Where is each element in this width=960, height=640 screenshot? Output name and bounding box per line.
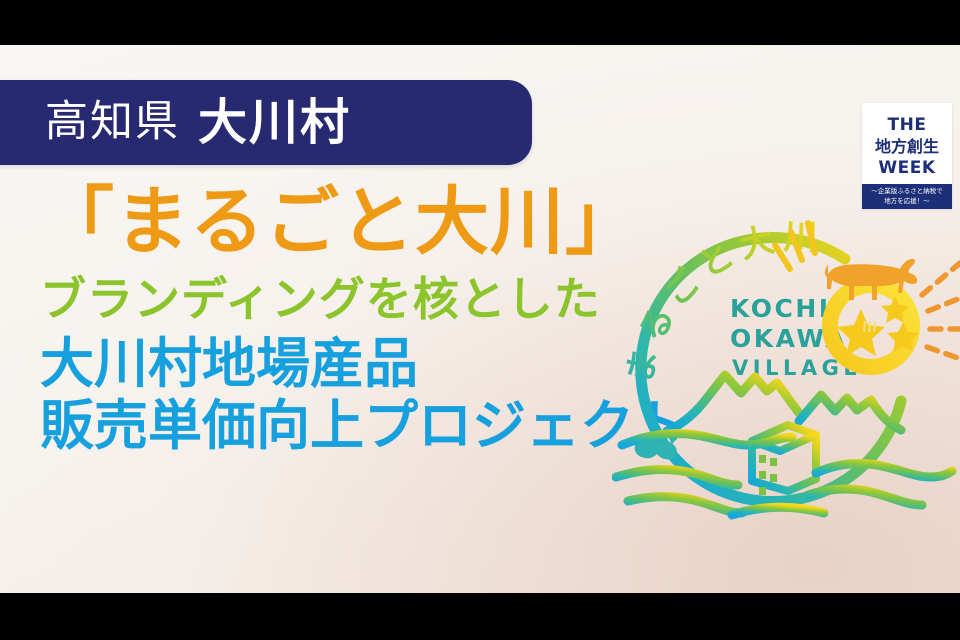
letterbox-bottom [0,593,960,640]
sun-rays [922,263,960,361]
event-logo-line-chihousousei: 地方創生 [875,139,939,155]
headline-line-branding: ブランディングを核とした [40,272,680,326]
prefecture-label: 高知県 [45,101,180,144]
event-logo-chihou-sousei-week: THE 地方創生 WEEK 〜企業版ふるさと納税で 地方を応援！〜 [862,103,952,209]
headline-block: 「まるごと大川」 ブランディングを核とした 大川村地場産品 販売単価向上プロジェ… [40,185,680,458]
headline-line-brand: 「まるごと大川」 [40,185,680,260]
headline-line-products: 大川村地場産品 [40,333,680,396]
presentation-slide: 高知県 大川村 「まるごと大川」 ブランディングを核とした 大川村地場産品 販売… [0,45,960,593]
event-logo-line-week: WEEK [878,160,935,177]
slide-canvas: 高知県 大川村 「まるごと大川」 ブランディングを核とした 大川村地場産品 販売… [0,0,960,640]
village-label: 大川村 [198,98,351,147]
prefecture-village-badge: 高知県 大川村 [0,80,532,165]
letterbox-top [0,0,960,45]
headline-line-project: 販売単価向上プロジェクト [40,395,680,458]
event-logo-line-the: THE [888,117,927,134]
svg-text:KOCHI: KOCHI [730,294,831,323]
okawa-village-brand-logo: まるごと大川 KOCHI OKAWA VILLAGE [612,195,960,525]
